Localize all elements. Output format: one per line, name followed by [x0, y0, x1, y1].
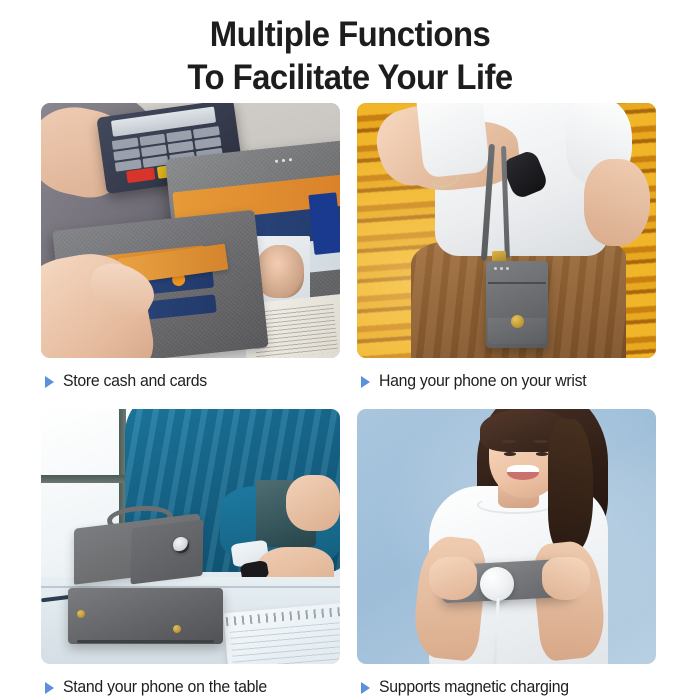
wallet-case-hanging: [486, 261, 549, 348]
caption-label: Supports magnetic charging: [379, 678, 569, 697]
triangle-right-icon: [361, 376, 370, 388]
feature-cell-stand-your-phone-on-the-table: Stand your phone on the table: [41, 409, 340, 697]
speaker-dots: [494, 267, 509, 270]
feature-photo-hang-your-phone-on-your-wrist: [357, 103, 656, 358]
triangle-right-icon: [361, 682, 370, 694]
caption-label: Store cash and cards: [63, 372, 207, 391]
eye-left: [504, 452, 516, 456]
zipper-line: [488, 282, 546, 284]
feature-caption-hang-your-phone-on-your-wrist: Hang your phone on your wrist: [357, 358, 656, 391]
title-line-2: To Facilitate Your Life: [21, 57, 679, 100]
tshirt-collar: [477, 496, 555, 514]
caption-label: Hang your phone on your wrist: [379, 372, 586, 391]
hand-holding-mug: [286, 475, 340, 531]
rivet-left: [77, 610, 85, 618]
feature-cell-hang-your-phone-on-your-wrist: Hang your phone on your wrist: [357, 103, 656, 391]
caption-label: Stand your phone on the table: [63, 678, 267, 697]
card-visa-logo: [308, 192, 340, 255]
feature-cell-store-cash-and-cards: Store cash and cards: [41, 103, 340, 391]
case-base: [68, 588, 223, 644]
hair-side: [548, 419, 593, 552]
spiral-notebook: [224, 603, 340, 664]
feature-cell-supports-magnetic-charging: Supports magnetic charging: [357, 409, 656, 697]
feature-photo-store-cash-and-cards: [41, 103, 340, 358]
rivet-right: [173, 625, 181, 633]
notebook-lines: [230, 622, 340, 664]
hand-left: [429, 557, 477, 600]
eyebrow-right: [533, 440, 548, 443]
eye-right: [536, 452, 548, 456]
arm-right: [584, 159, 650, 246]
camera-cutout: [173, 537, 189, 553]
feature-photo-supports-magnetic-charging: [357, 409, 656, 664]
triangle-right-icon: [45, 376, 54, 388]
hand-right: [542, 557, 590, 600]
feature-caption-stand-your-phone-on-the-table: Stand your phone on the table: [41, 664, 340, 697]
title-line-1: Multiple Functions: [21, 14, 679, 57]
zipper-line: [77, 640, 214, 643]
triangle-right-icon: [45, 682, 54, 694]
eyebrow-left: [501, 440, 516, 443]
paper-cup: [416, 103, 490, 178]
feature-caption-supports-magnetic-charging: Supports magnetic charging: [357, 664, 656, 697]
phone-in-stand: [130, 519, 203, 584]
feature-caption-store-cash-and-cards: Store cash and cards: [41, 358, 340, 391]
feature-photo-stand-your-phone-on-the-table: [41, 409, 340, 664]
page-title: Multiple Functions To Facilitate Your Li…: [0, 0, 700, 99]
feature-grid: Store cash and cards: [41, 103, 663, 697]
